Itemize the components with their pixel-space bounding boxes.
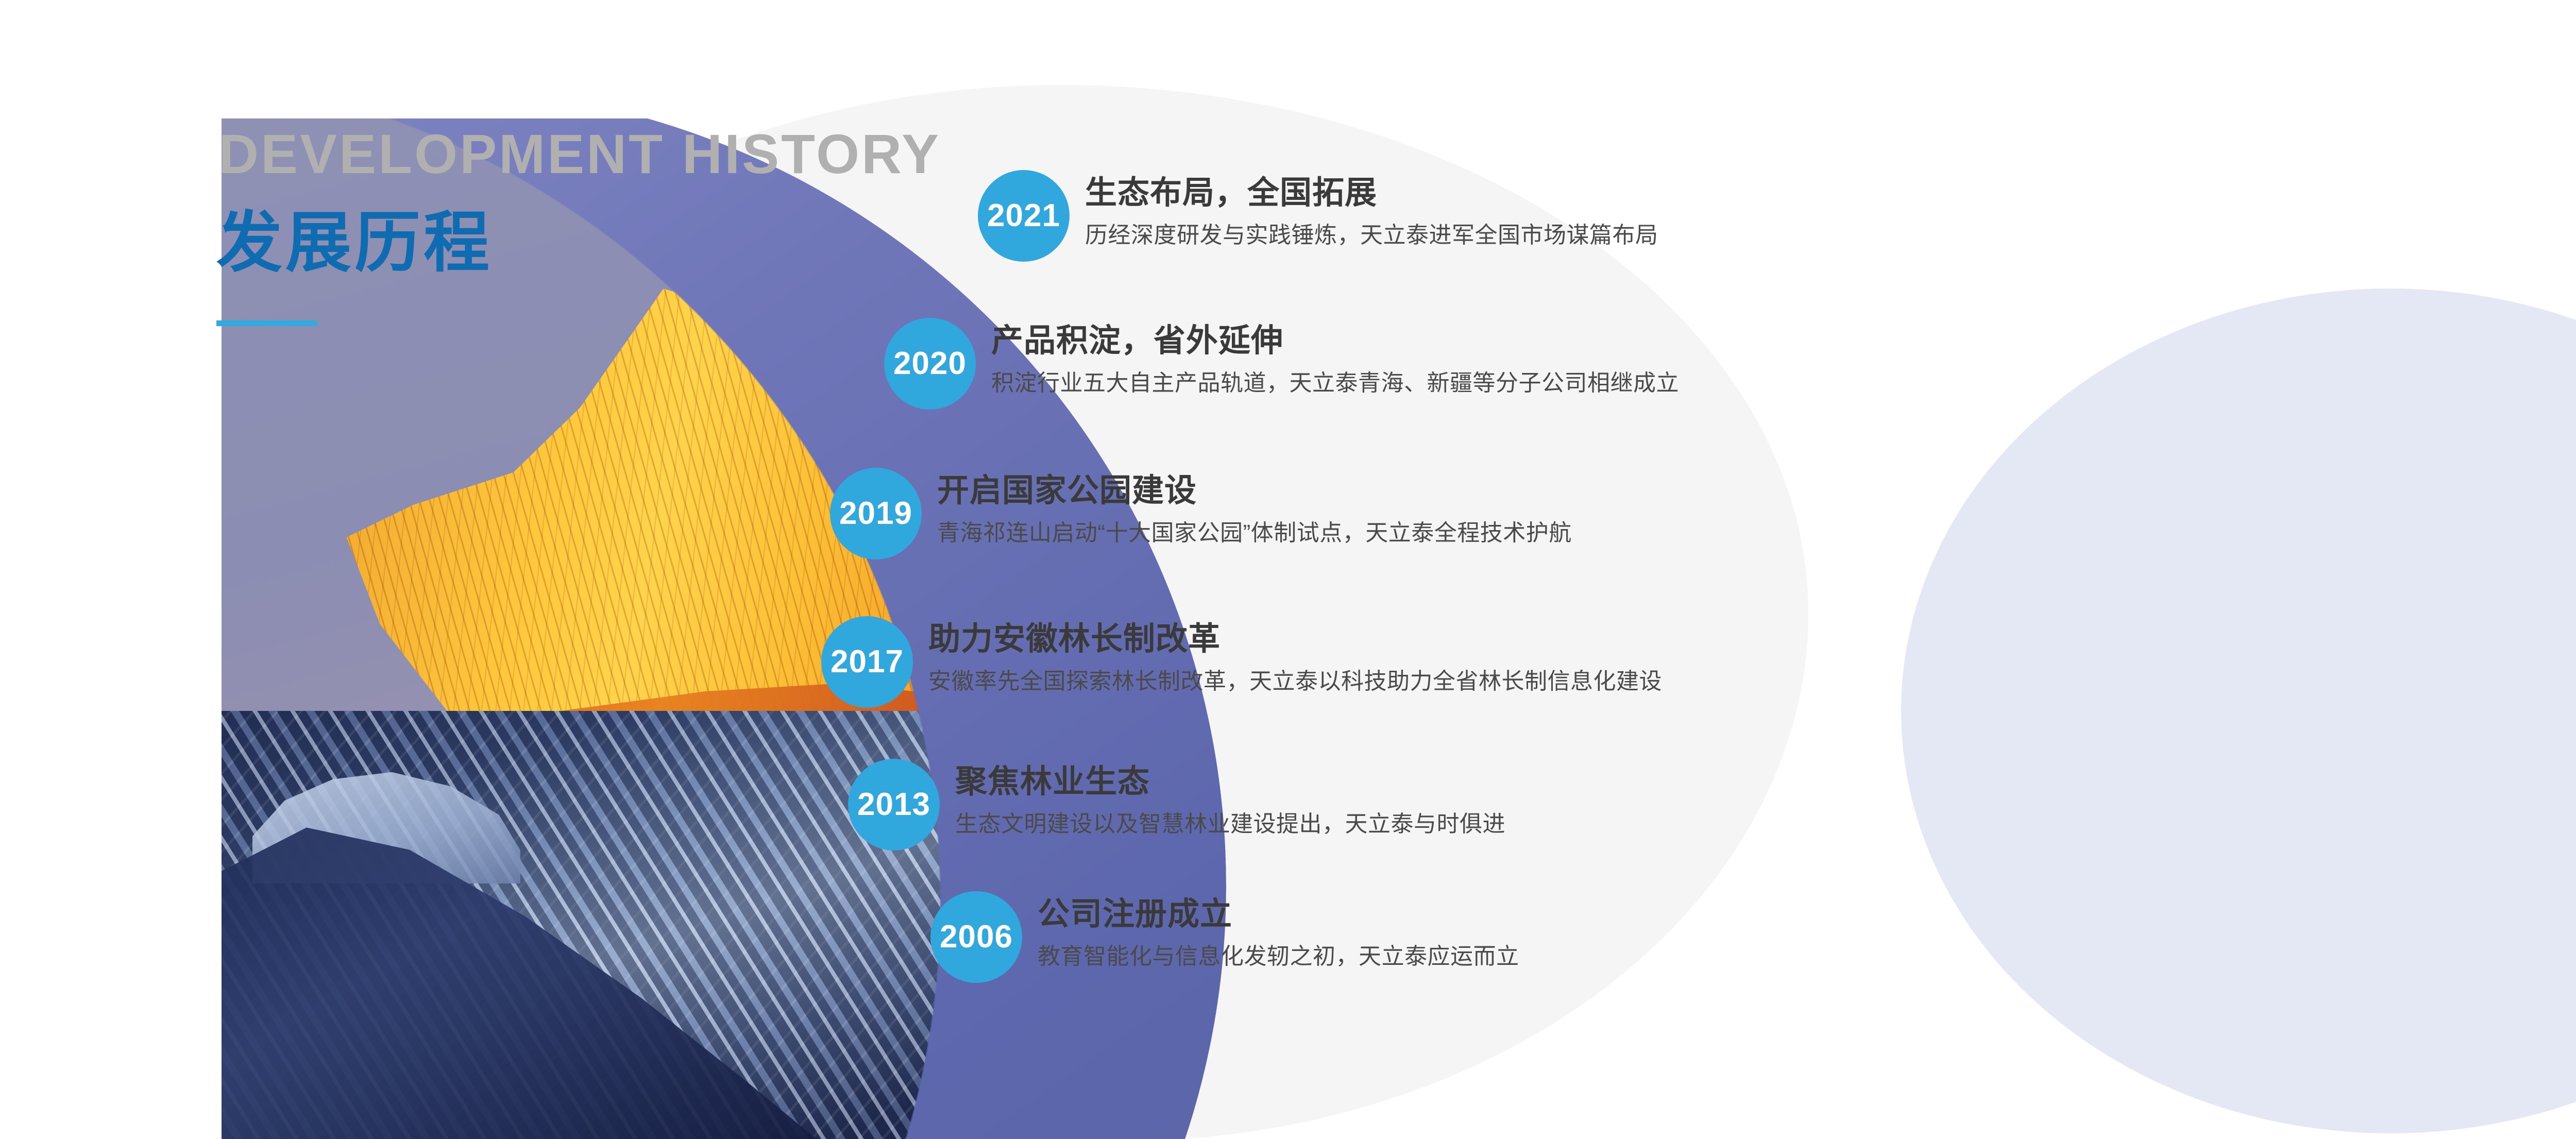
timeline-desc: 生态文明建设以及智慧林业建设提出，天立泰与时俱进 xyxy=(955,809,1505,839)
timeline-title: 产品积淀，省外延伸 xyxy=(991,321,1679,361)
timeline-title: 开启国家公园建设 xyxy=(937,471,1572,511)
year-label: 2006 xyxy=(940,921,1013,953)
year-label: 2020 xyxy=(893,348,967,380)
year-badge-2019[interactable]: 2019 xyxy=(830,468,922,559)
year-badge-2017[interactable]: 2017 xyxy=(821,616,913,708)
timeline-desc: 教育智能化与信息化发轫之初，天立泰应运而立 xyxy=(1038,942,1519,971)
year-badge-2020[interactable]: 2020 xyxy=(884,318,976,410)
timeline-text-2017: 助力安徽林长制改革 安徽率先全国探索林长制改革，天立泰以科技助力全省林长制信息化… xyxy=(928,619,1662,696)
year-label: 2021 xyxy=(987,200,1060,232)
title-accent-bar xyxy=(216,320,317,326)
timeline-desc: 青海祁连山启动“十大国家公园”体制试点，天立泰全程技术护航 xyxy=(937,518,1572,548)
page-title: 发展历程 xyxy=(216,206,493,280)
timeline-text-2019: 开启国家公园建设 青海祁连山启动“十大国家公园”体制试点，天立泰全程技术护航 xyxy=(937,471,1572,548)
year-label: 2017 xyxy=(831,646,904,678)
slide-canvas: DEVELOPMENT HISTORY 发展历程 2021 生态布局，全国拓展 … xyxy=(0,0,2576,1139)
timeline-title: 生态布局，全国拓展 xyxy=(1085,173,1658,213)
year-label: 2019 xyxy=(839,498,912,530)
timeline-title: 助力安徽林长制改革 xyxy=(928,619,1662,659)
timeline-desc: 历经深度研发与实践锤炼，天立泰进军全国市场谋篇布局 xyxy=(1085,220,1658,250)
timeline-text-2006: 公司注册成立 教育智能化与信息化发轫之初，天立泰应运而立 xyxy=(1038,894,1519,971)
timeline-text-2020: 产品积淀，省外延伸 积淀行业五大自主产品轨道，天立泰青海、新疆等分子公司相继成立 xyxy=(991,321,1679,398)
page-kicker: DEVELOPMENT HISTORY xyxy=(218,126,941,182)
timeline-desc: 积淀行业五大自主产品轨道，天立泰青海、新疆等分子公司相继成立 xyxy=(991,368,1679,398)
year-badge-2021[interactable]: 2021 xyxy=(978,170,1070,262)
year-badge-2013[interactable]: 2013 xyxy=(848,759,940,851)
vertical-slogan: 立天地诺泰山 共赢科技未来 xyxy=(2025,268,2576,812)
timeline-desc: 安徽率先全国探索林长制改革，天立泰以科技助力全省林长制信息化建设 xyxy=(928,667,1662,696)
timeline-text-2021: 生态布局，全国拓展 历经深度研发与实践锤炼，天立泰进军全国市场谋篇布局 xyxy=(1085,173,1658,250)
year-label: 2013 xyxy=(857,789,930,821)
timeline-title: 公司注册成立 xyxy=(1038,894,1519,934)
timeline-title: 聚焦林业生态 xyxy=(955,762,1505,802)
timeline-text-2013: 聚焦林业生态 生态文明建设以及智慧林业建设提出，天立泰与时俱进 xyxy=(955,762,1505,839)
year-badge-2006[interactable]: 2006 xyxy=(930,891,1022,983)
